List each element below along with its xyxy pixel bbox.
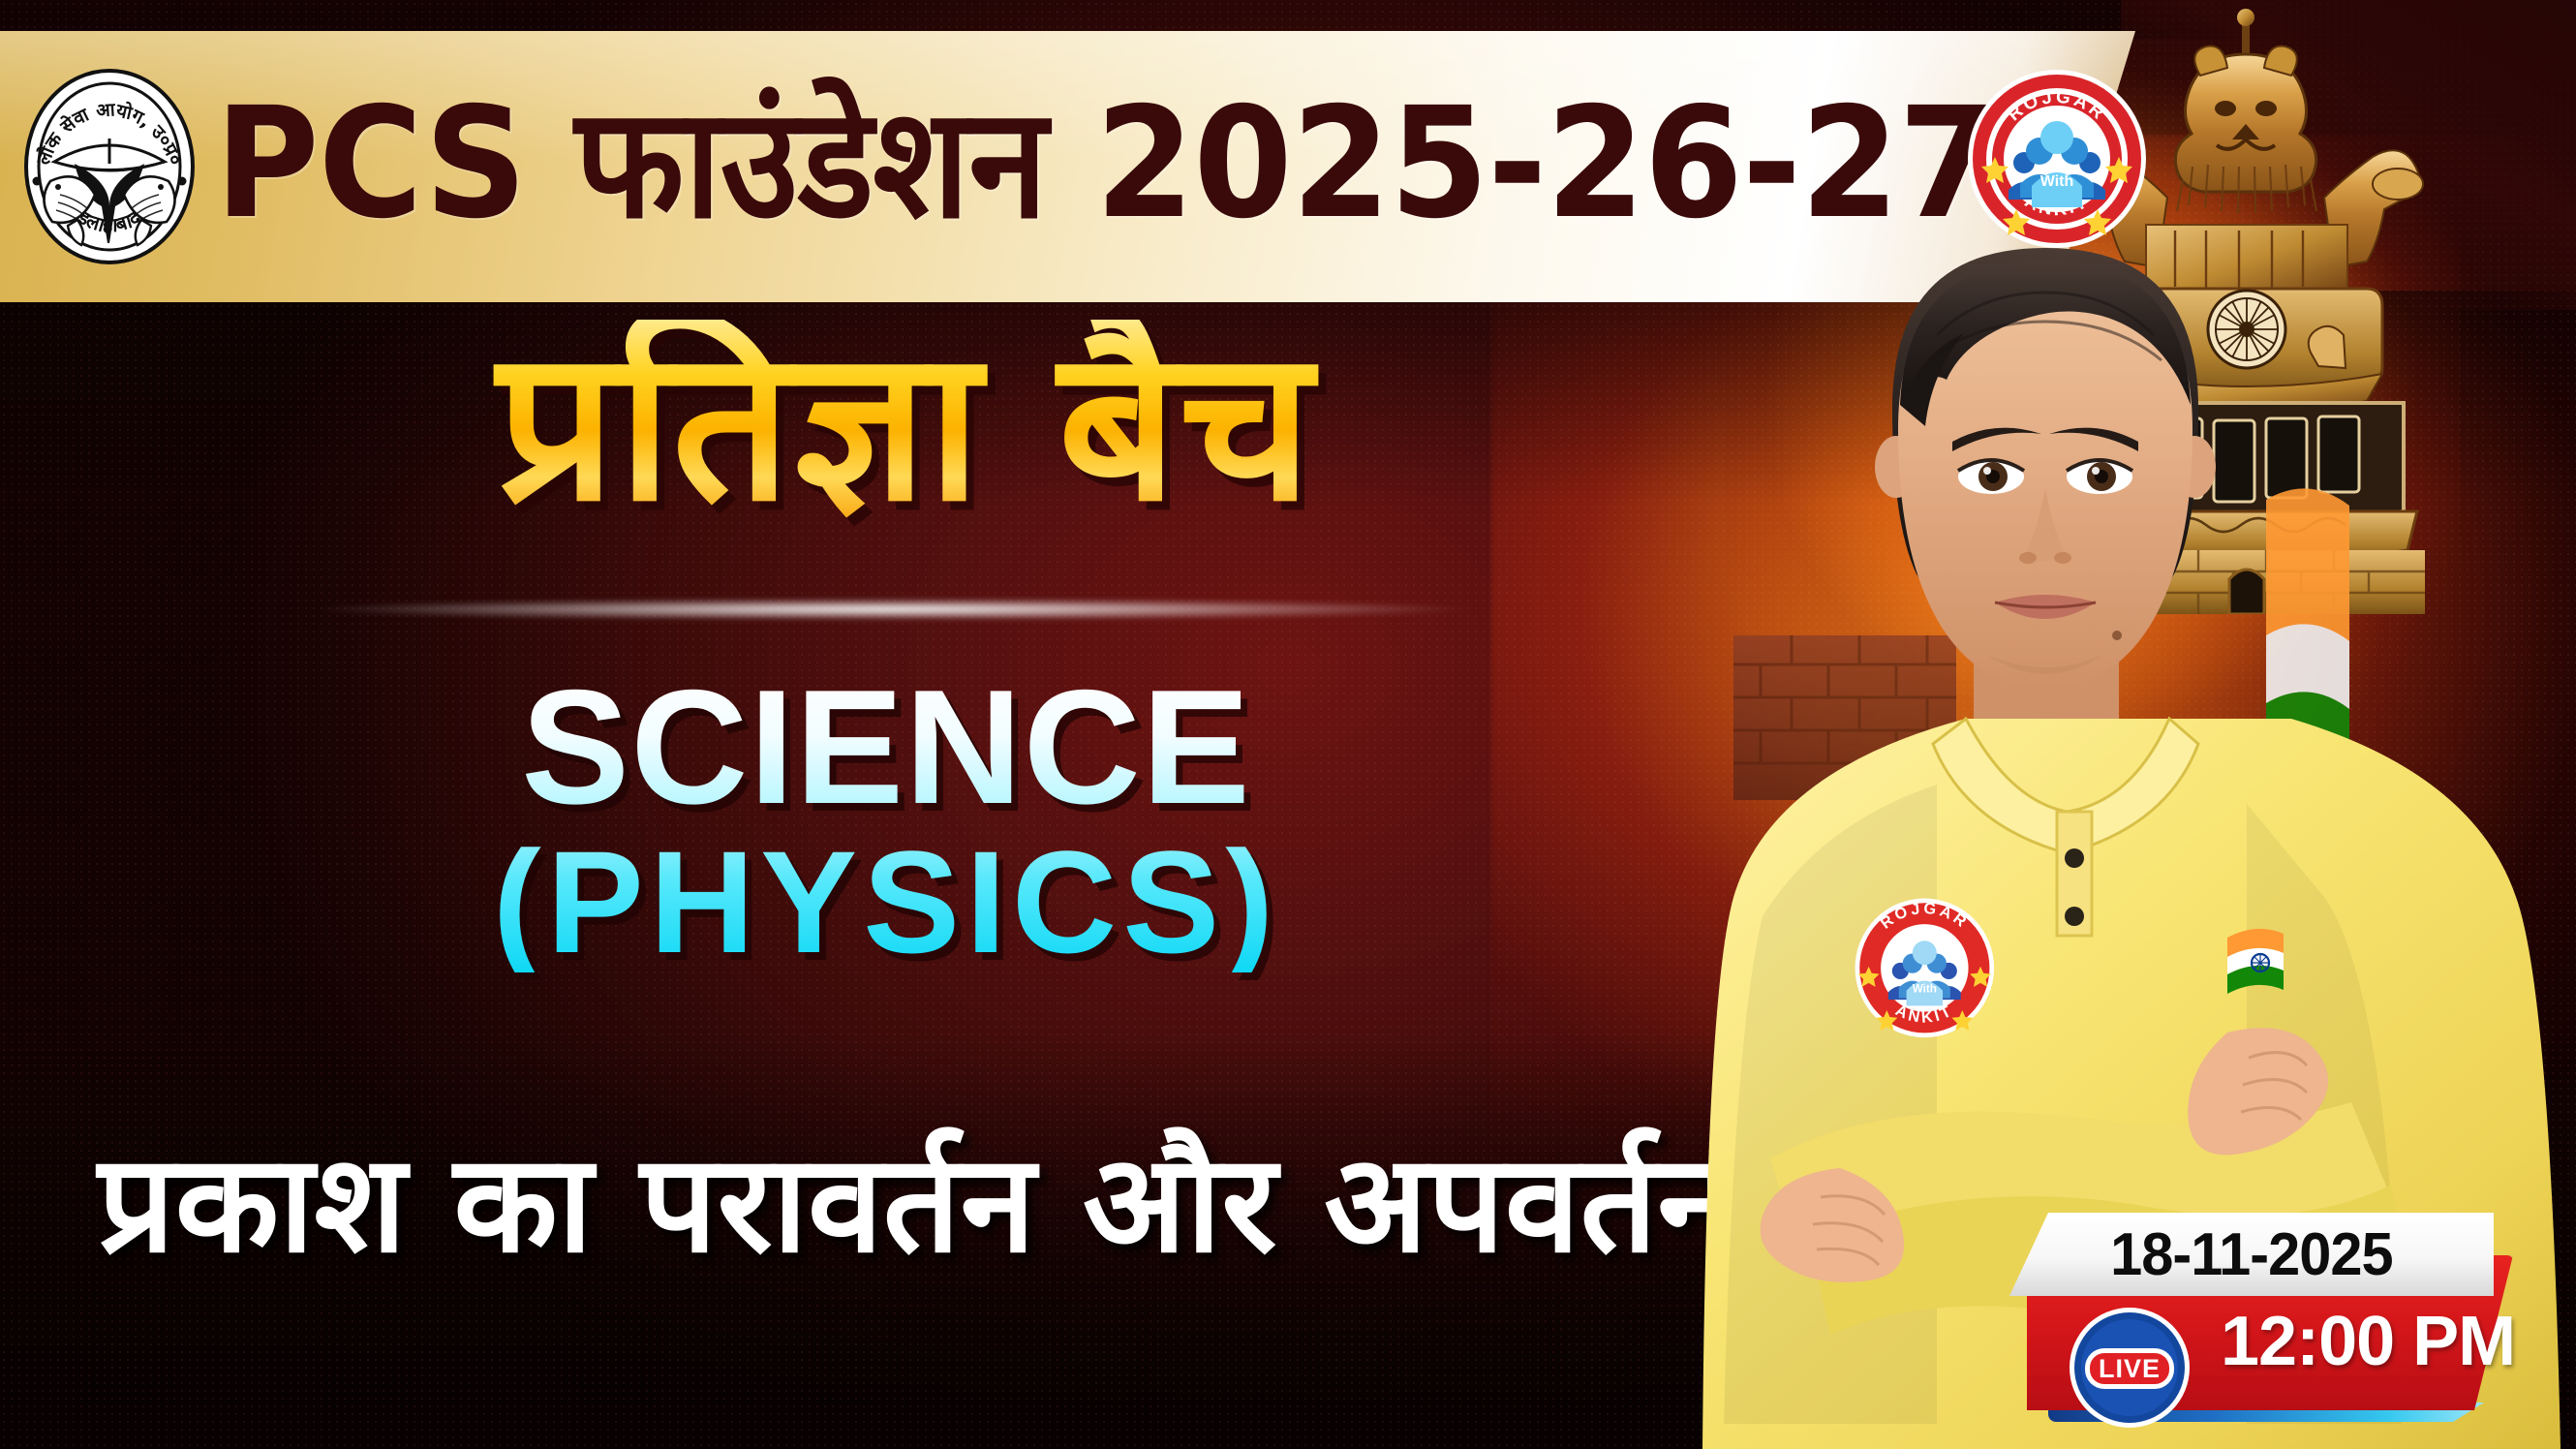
batch-title: प्रतिज्ञा बैच [0,320,1811,533]
subject-subtitle: (PHYSICS) [0,832,1772,973]
live-label: LIVE [2099,1354,2161,1383]
thumbnail-canvas: लोक सेवा आयोग, उ०प्र० इलाहाबाद [0,0,2576,1449]
topic-title: प्रकाश का परावर्तन और अपवर्तन [0,1133,1830,1276]
subject-title-block: SCIENCE (PHYSICS) [0,668,1772,972]
badge-date-text: 18-11-2025 [2110,1220,2393,1289]
badge-date-bar: 18-11-2025 [2009,1213,2494,1296]
subject-title: SCIENCE [521,656,1251,838]
batch-title-glow [320,599,1462,620]
schedule-badge: 18-11-2025 LIVE 12:00 PM [2009,1213,2532,1426]
shirt-logo-center: With [1913,982,1937,995]
live-icon: LIVE [2068,1306,2192,1430]
badge-time-text: 12:00 PM [2221,1302,2515,1381]
uppsc-seal-logo: लोक सेवा आयोग, उ०प्र० इलाहाबाद [21,67,198,266]
